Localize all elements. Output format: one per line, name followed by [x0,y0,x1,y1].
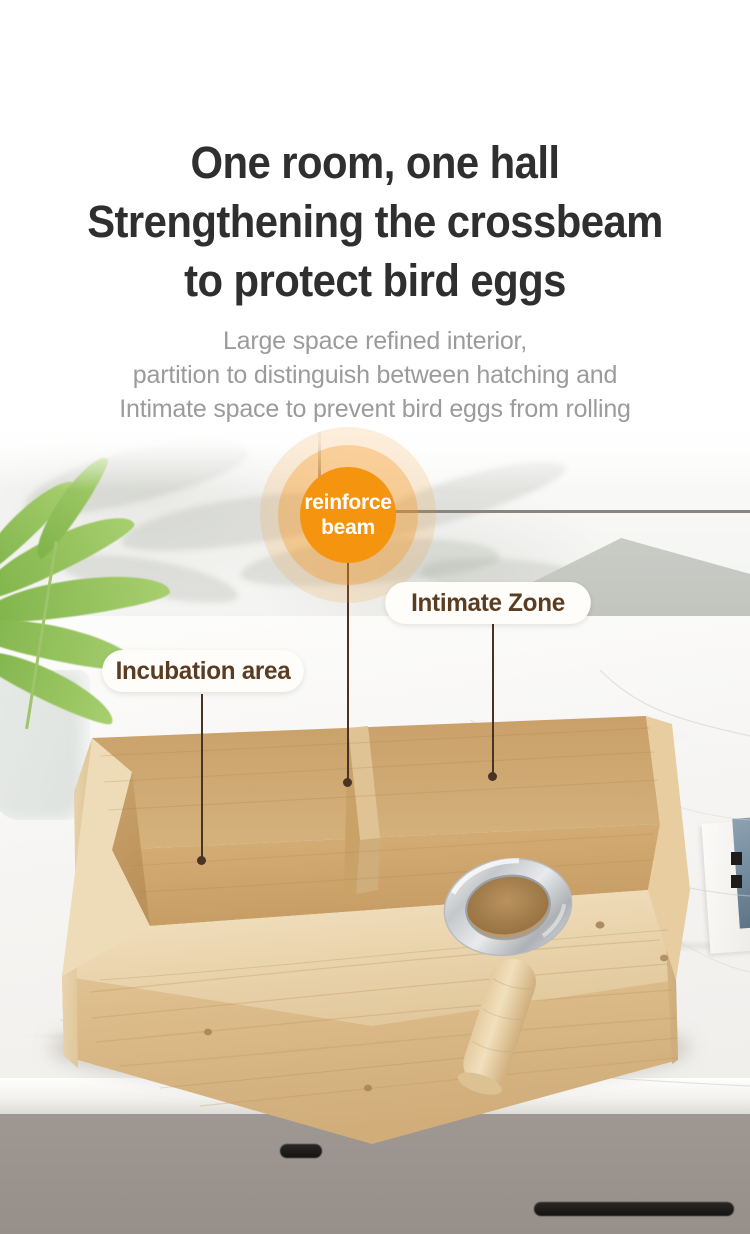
leader-line-incubation [201,694,203,860]
leader-dot-incubation [197,856,206,865]
leader-dot-intimate-zone [488,772,497,781]
callout-pill-incubation-area-label: Incubation area [116,657,291,686]
leader-dot-reinforce-beam [343,778,352,787]
callout-pill-incubation-area[interactable]: Incubation area [102,650,304,692]
callout-pill-intimate-zone-label: Intimate Zone [411,589,565,618]
reinforce-beam-badge[interactable]: reinforce beam [300,467,396,563]
leader-line-intimate-zone [492,620,494,776]
reinforce-beam-label-line-2: beam [304,515,391,540]
callout-pill-intimate-zone[interactable]: Intimate Zone [385,582,591,624]
reinforce-beam-label-line-1: reinforce [304,490,391,515]
callout-overlay: reinforce beam Incubation area Intimate … [0,0,750,1234]
